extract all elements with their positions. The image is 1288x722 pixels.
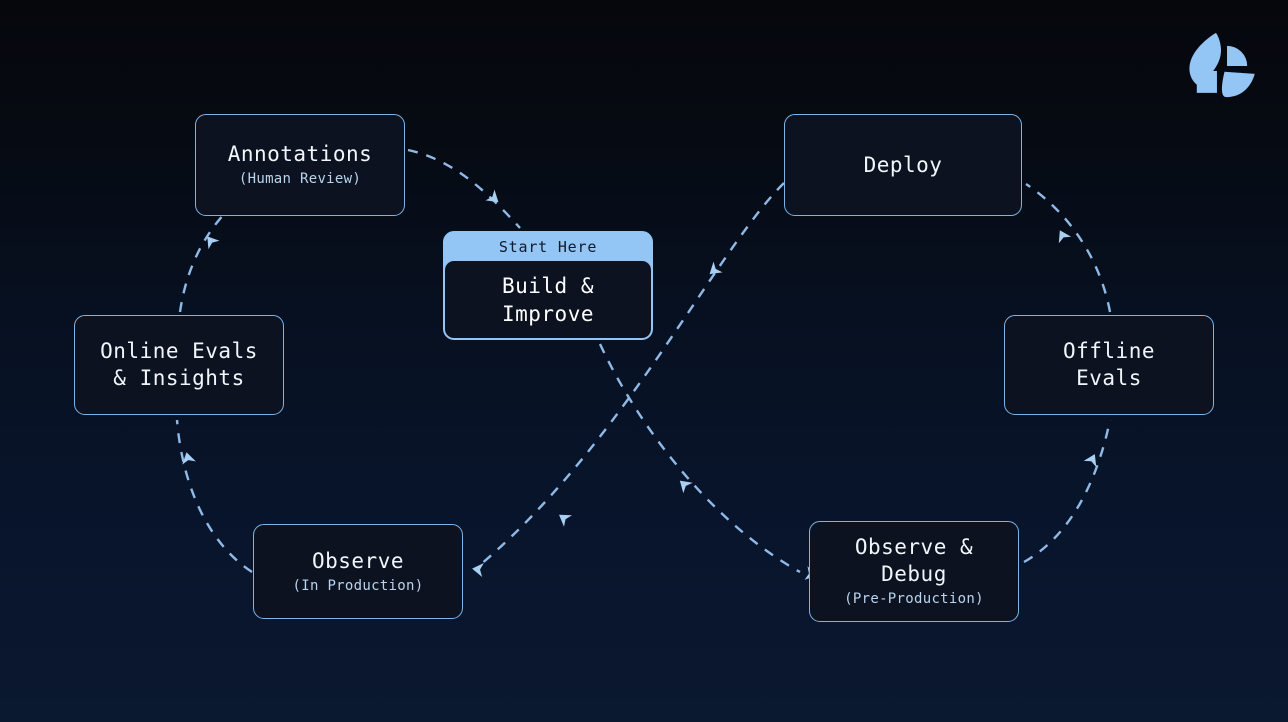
node-observe-debug[interactable]: Observe & Debug (Pre-Production) <box>809 521 1019 622</box>
edge-observe-to-online-evals <box>177 420 252 572</box>
node-offline-evals-title: Offline Evals <box>1063 338 1155 392</box>
node-observe[interactable]: Observe (In Production) <box>253 524 463 619</box>
edge-annotations-to-build <box>408 150 520 228</box>
node-deploy[interactable]: Deploy <box>784 114 1022 216</box>
node-online-evals[interactable]: Online Evals & Insights <box>74 315 284 415</box>
node-annotations[interactable]: Annotations (Human Review) <box>195 114 405 216</box>
node-build-improve-title: Build & Improve <box>502 272 594 328</box>
edge-offline-evals-to-deploy <box>1026 184 1110 312</box>
brand-leaf-logo <box>1180 24 1264 108</box>
node-annotations-title: Annotations <box>228 141 373 168</box>
start-here-badge: Start Here <box>444 232 652 261</box>
node-online-evals-title: Online Evals & Insights <box>100 338 258 392</box>
node-observe-subtitle: (In Production) <box>293 577 424 596</box>
node-observe-debug-subtitle: (Pre-Production) <box>844 590 984 609</box>
node-offline-evals[interactable]: Offline Evals <box>1004 315 1214 415</box>
edge-build-to-observe-debug <box>600 344 800 572</box>
node-build-improve-body: Build & Improve <box>445 261 651 338</box>
node-observe-title: Observe <box>312 548 404 575</box>
node-deploy-title: Deploy <box>864 152 943 179</box>
node-annotations-subtitle: (Human Review) <box>239 170 361 189</box>
node-observe-debug-title: Observe & Debug <box>855 534 973 588</box>
node-build-improve[interactable]: Start Here Build & Improve <box>443 231 653 340</box>
edge-observe-debug-to-offline-evals <box>1024 420 1110 562</box>
